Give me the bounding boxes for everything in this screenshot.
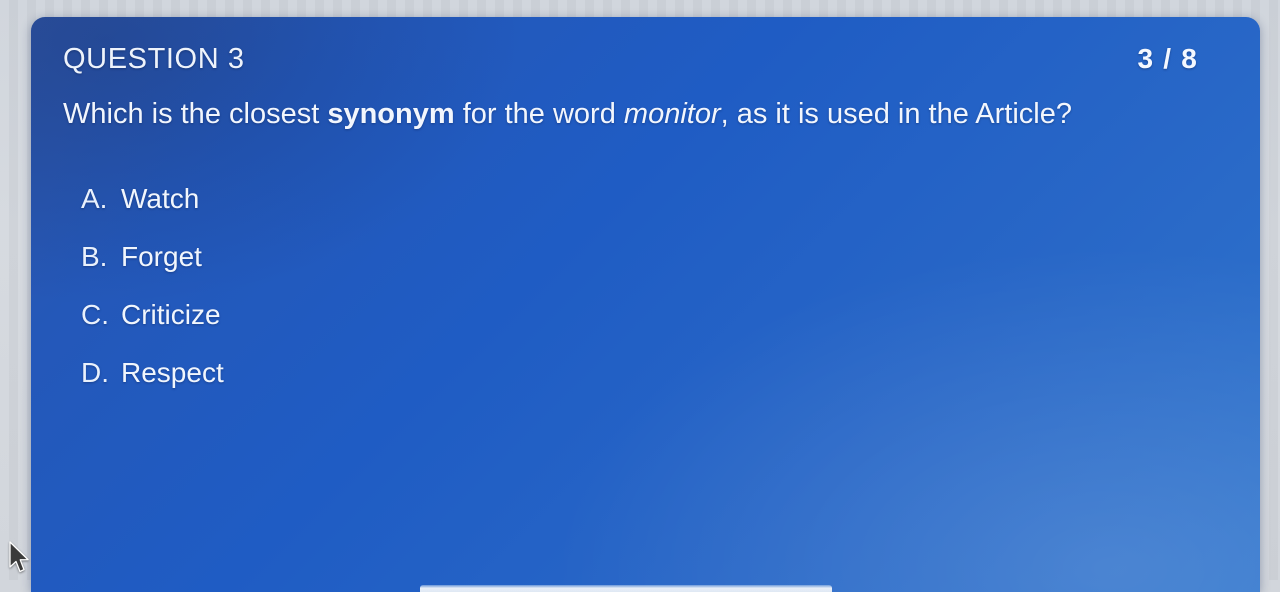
prompt-bold-term: synonym [327, 98, 454, 130]
answer-option-d[interactable]: D. Respect [81, 357, 1228, 389]
question-counter: 3 / 8 [1138, 43, 1228, 75]
answer-option-c[interactable]: C. Criticize [81, 299, 1228, 331]
option-text-c: Criticize [121, 299, 221, 331]
question-prompt: Which is the closest synonym for the wor… [63, 94, 1228, 135]
option-text-b: Forget [121, 241, 202, 273]
card-header: QUESTION 3 3 / 8 [63, 17, 1228, 76]
option-letter-d: D. [81, 357, 121, 389]
answer-option-a[interactable]: A. Watch [81, 183, 1228, 215]
option-text-d: Respect [121, 357, 224, 389]
prompt-segment-1: Which is the closest [63, 98, 327, 130]
option-letter-b: B. [81, 241, 121, 273]
prompt-segment-2: for the word [455, 98, 624, 130]
question-card: QUESTION 3 3 / 8 Which is the closest sy… [31, 17, 1260, 592]
answer-option-b[interactable]: B. Forget [81, 241, 1228, 273]
option-letter-c: C. [81, 299, 121, 331]
page-title: QUESTION 3 [63, 43, 245, 76]
prompt-italic-term: monitor [624, 98, 721, 130]
option-text-a: Watch [121, 183, 199, 215]
bottom-toolbar-edge [420, 585, 832, 592]
answer-options-list: A. Watch B. Forget C. Criticize D. Respe… [63, 183, 1228, 389]
option-letter-a: A. [81, 183, 121, 215]
prompt-segment-3: , as it is used in the Article? [721, 98, 1072, 130]
